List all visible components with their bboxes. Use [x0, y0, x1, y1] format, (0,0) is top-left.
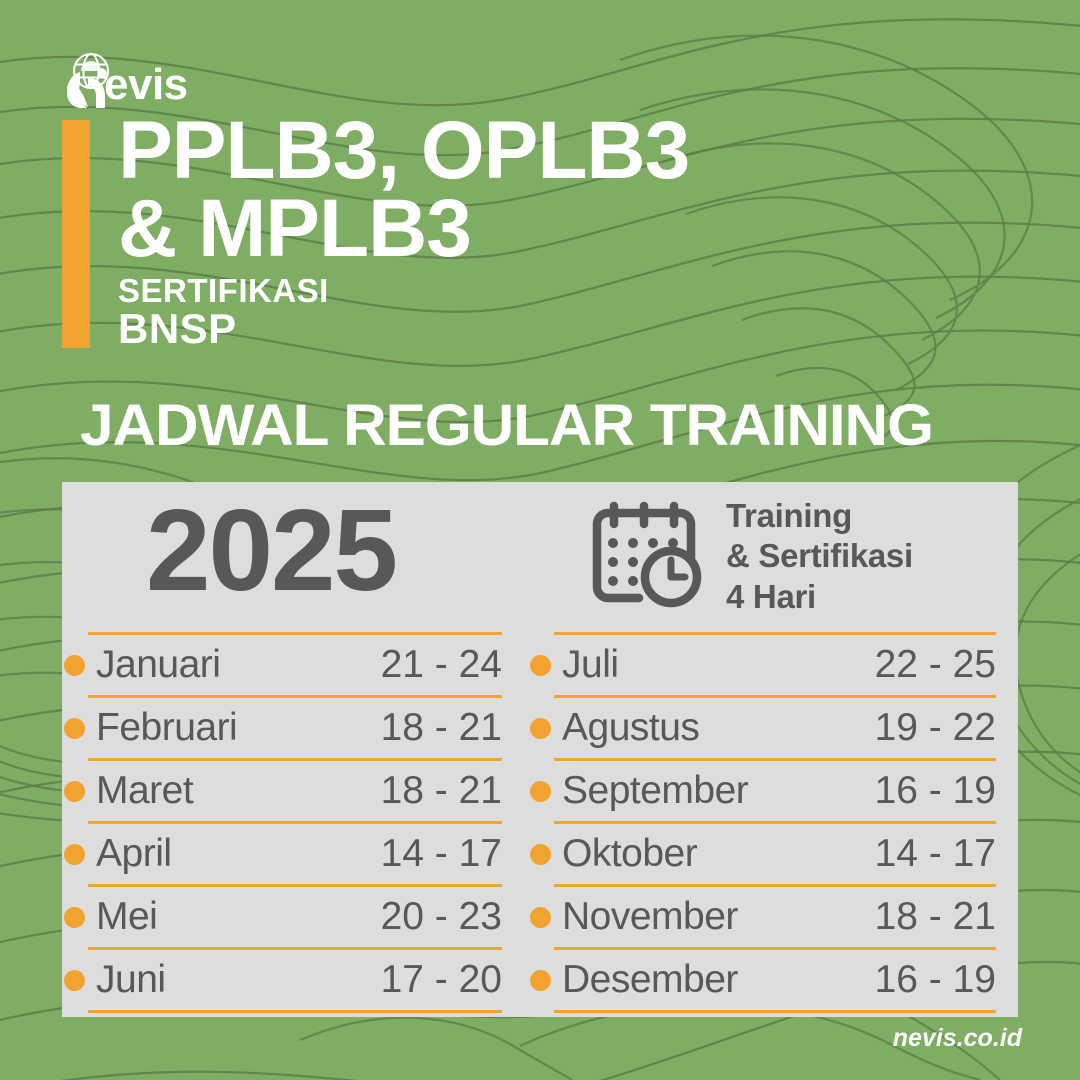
subtitle-sertifikasi: SERTIFIKASI: [118, 274, 1018, 309]
headline-block: PPLB3, OPLB3 & MPLB3 SERTIFIKASI BNSP: [118, 112, 1018, 350]
bullet-icon: [530, 844, 551, 865]
bullet-icon: [64, 781, 85, 802]
schedule-row[interactable]: April 14 - 17: [88, 821, 502, 884]
bullet-icon: [64, 970, 85, 991]
month-name: Juni: [88, 958, 166, 1002]
bullet-icon: [64, 655, 85, 676]
month-dates: 14 - 17: [381, 832, 502, 876]
schedule-row[interactable]: Mei 20 - 23: [88, 884, 502, 947]
headline-line-1: PPLB3, OPLB3: [118, 112, 1018, 190]
month-dates: 21 - 24: [381, 643, 502, 687]
bullet-icon: [530, 970, 551, 991]
month-name: Oktober: [554, 832, 697, 876]
schedule-column-first-half: Januari 21 - 24 Februari 18 - 21 Maret 1…: [62, 632, 540, 1013]
month-dates: 14 - 17: [875, 832, 996, 876]
month-dates: 16 - 19: [875, 958, 996, 1002]
footer-website-url[interactable]: nevis.co.id: [893, 1024, 1022, 1053]
schedule-card: 2025: [62, 482, 1018, 1017]
schedule-row[interactable]: Juni 17 - 20: [88, 947, 502, 1013]
schedule-row[interactable]: Agustus 19 - 22: [554, 695, 996, 758]
schedule-row[interactable]: Februari 18 - 21: [88, 695, 502, 758]
month-dates: 22 - 25: [875, 643, 996, 687]
duration-badge: Training & Sertifikasi 4 Hari: [592, 496, 913, 617]
bullet-icon: [64, 844, 85, 865]
poster-root: evis PPLB3, OPLB3 & MPLB3 SERTIFIKASI BN…: [0, 0, 1080, 1080]
schedule-row[interactable]: September 16 - 19: [554, 758, 996, 821]
badge-line-3: 4 Hari: [726, 577, 913, 617]
month-name: Desember: [554, 958, 738, 1002]
schedule-row[interactable]: Oktober 14 - 17: [554, 821, 996, 884]
month-dates: 19 - 22: [875, 706, 996, 750]
accent-bar: [62, 120, 90, 348]
card-header: 2025: [62, 482, 1018, 632]
bullet-icon: [530, 655, 551, 676]
month-name: September: [554, 769, 748, 813]
month-name: Februari: [88, 706, 237, 750]
bullet-icon: [64, 907, 85, 928]
bullet-icon: [530, 907, 551, 928]
year-label: 2025: [146, 492, 396, 608]
brand-logo: evis: [58, 52, 188, 108]
badge-line-1: Training: [726, 496, 913, 536]
schedule-row[interactable]: Desember 16 - 19: [554, 947, 996, 1013]
schedule-row[interactable]: Januari 21 - 24: [88, 632, 502, 695]
duration-badge-text: Training & Sertifikasi 4 Hari: [726, 496, 913, 617]
month-dates: 18 - 21: [381, 769, 502, 813]
subtitle-bnsp: BNSP: [118, 308, 1018, 350]
month-name: November: [554, 895, 738, 939]
brand-wordmark: evis: [104, 63, 188, 107]
schedule-row[interactable]: November 18 - 21: [554, 884, 996, 947]
calendar-clock-icon: [592, 498, 704, 610]
month-name: Agustus: [554, 706, 699, 750]
month-dates: 18 - 21: [875, 895, 996, 939]
schedule-column-second-half: Juli 22 - 25 Agustus 19 - 22 September 1…: [540, 632, 1018, 1013]
month-name: Januari: [88, 643, 220, 687]
bullet-icon: [64, 718, 85, 739]
month-dates: 20 - 23: [381, 895, 502, 939]
bullet-icon: [530, 718, 551, 739]
month-name: Juli: [554, 643, 619, 687]
month-name: Maret: [88, 769, 193, 813]
schedule-columns: Januari 21 - 24 Februari 18 - 21 Maret 1…: [62, 632, 1018, 1013]
month-dates: 17 - 20: [381, 958, 502, 1002]
bullet-icon: [530, 781, 551, 802]
month-dates: 18 - 21: [381, 706, 502, 750]
month-dates: 16 - 19: [875, 769, 996, 813]
headline-line-2: & MPLB3: [118, 190, 1018, 268]
month-name: April: [88, 832, 172, 876]
month-name: Mei: [88, 895, 157, 939]
section-heading: JADWAL REGULAR TRAINING: [80, 392, 933, 459]
schedule-row[interactable]: Juli 22 - 25: [554, 632, 996, 695]
schedule-row[interactable]: Maret 18 - 21: [88, 758, 502, 821]
badge-line-2: & Sertifikasi: [726, 536, 913, 576]
